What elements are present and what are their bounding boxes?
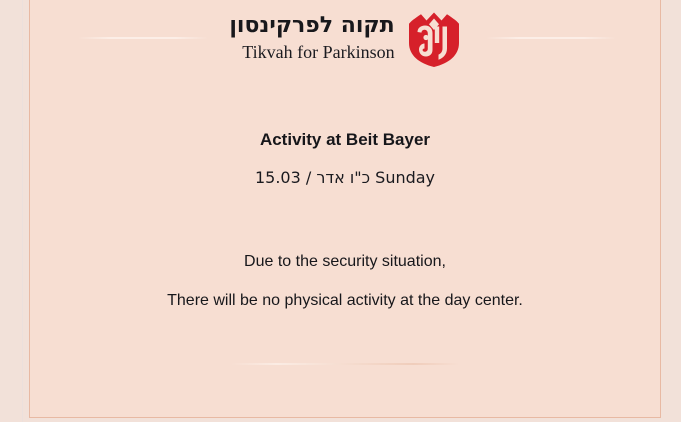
notice-card: תקוה לפרקינסון Tikvah for Parkinson: [29, 0, 661, 418]
brand-lockup: תקוה לפרקינסון Tikvah for Parkinson: [30, 8, 660, 68]
page-title: Activity at Beit Bayer: [30, 128, 660, 152]
brand-name-english: Tikvah for Parkinson: [242, 41, 394, 63]
notice-body-line-1: Due to the security situation,: [30, 251, 660, 273]
notice-date: Sunday כ"ו אדר / 15.03: [30, 166, 660, 190]
footer-divider: [231, 363, 459, 365]
brand-header: תקוה לפרקינסון Tikvah for Parkinson: [30, 8, 660, 84]
notice-page: תקוה לפרקינסון Tikvah for Parkinson: [0, 0, 681, 422]
notice-body-block: Due to the security situation, There wil…: [30, 251, 660, 312]
notice-heading-block: Activity at Beit Bayer Sunday כ"ו אדר / …: [30, 128, 660, 190]
notice-body-line-2: There will be no physical activity at th…: [30, 290, 660, 312]
brand-name-hebrew: תקוה לפרקינסון: [229, 12, 394, 40]
brand-wordmark: תקוה לפרקינסון Tikvah for Parkinson: [229, 8, 394, 63]
outer-gutter-seam: [22, 0, 23, 422]
tikvah-tulip-shield-logo-icon: [407, 10, 461, 68]
